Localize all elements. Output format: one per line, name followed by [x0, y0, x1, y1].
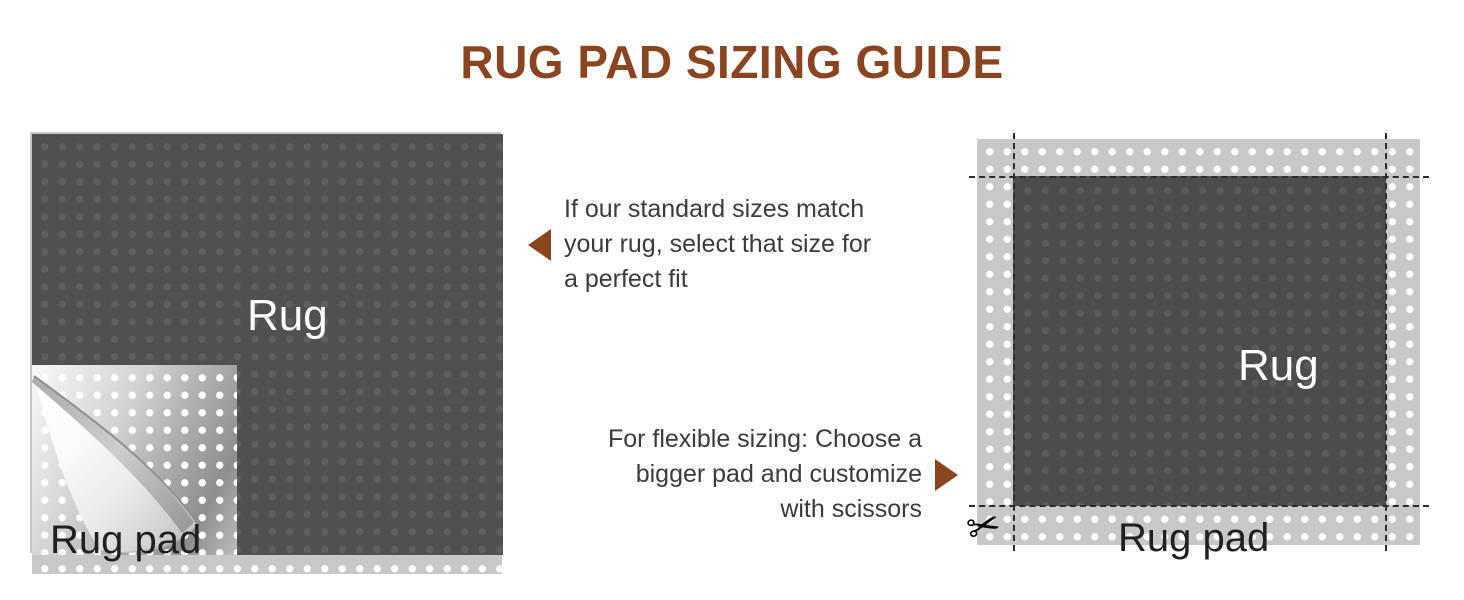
- callout-line: bigger pad and customize: [548, 457, 922, 492]
- callout-line: a perfect fit: [564, 262, 871, 297]
- callout-line: For flexible sizing: Choose a: [548, 422, 922, 457]
- cut-guide-bottom: [969, 505, 1429, 507]
- callout-flexible-size-text: For flexible sizing: Choose a bigger pad…: [548, 422, 922, 527]
- callout-standard-size: If our standard sizes match your rug, se…: [528, 192, 916, 297]
- callout-line: If our standard sizes match: [564, 192, 871, 227]
- callout-standard-size-text: If our standard sizes match your rug, se…: [564, 192, 871, 297]
- trim-to-fit-diagram: Rug ✂ Rug pad: [955, 125, 1455, 585]
- right-rug-sheet: Rug: [1013, 176, 1386, 506]
- cut-guide-top: [969, 176, 1429, 178]
- exact-fit-diagram: Rug: [14, 120, 514, 580]
- right-rug-pad-label: Rug pad: [1118, 518, 1269, 558]
- left-rug-pad-label: Rug pad: [50, 520, 201, 560]
- triangle-left-icon: [528, 229, 551, 261]
- cut-guide-right: [1385, 133, 1387, 551]
- callout-line: with scissors: [548, 492, 922, 527]
- left-rug-label: Rug: [247, 294, 328, 338]
- callout-line: your rug, select that size for: [564, 227, 871, 262]
- right-rug-label: Rug: [1238, 344, 1319, 388]
- page-title: RUG PAD SIZING GUIDE: [0, 34, 1464, 90]
- callout-flexible-size: For flexible sizing: Choose a bigger pad…: [548, 422, 958, 527]
- cut-guide-left: [1013, 133, 1015, 551]
